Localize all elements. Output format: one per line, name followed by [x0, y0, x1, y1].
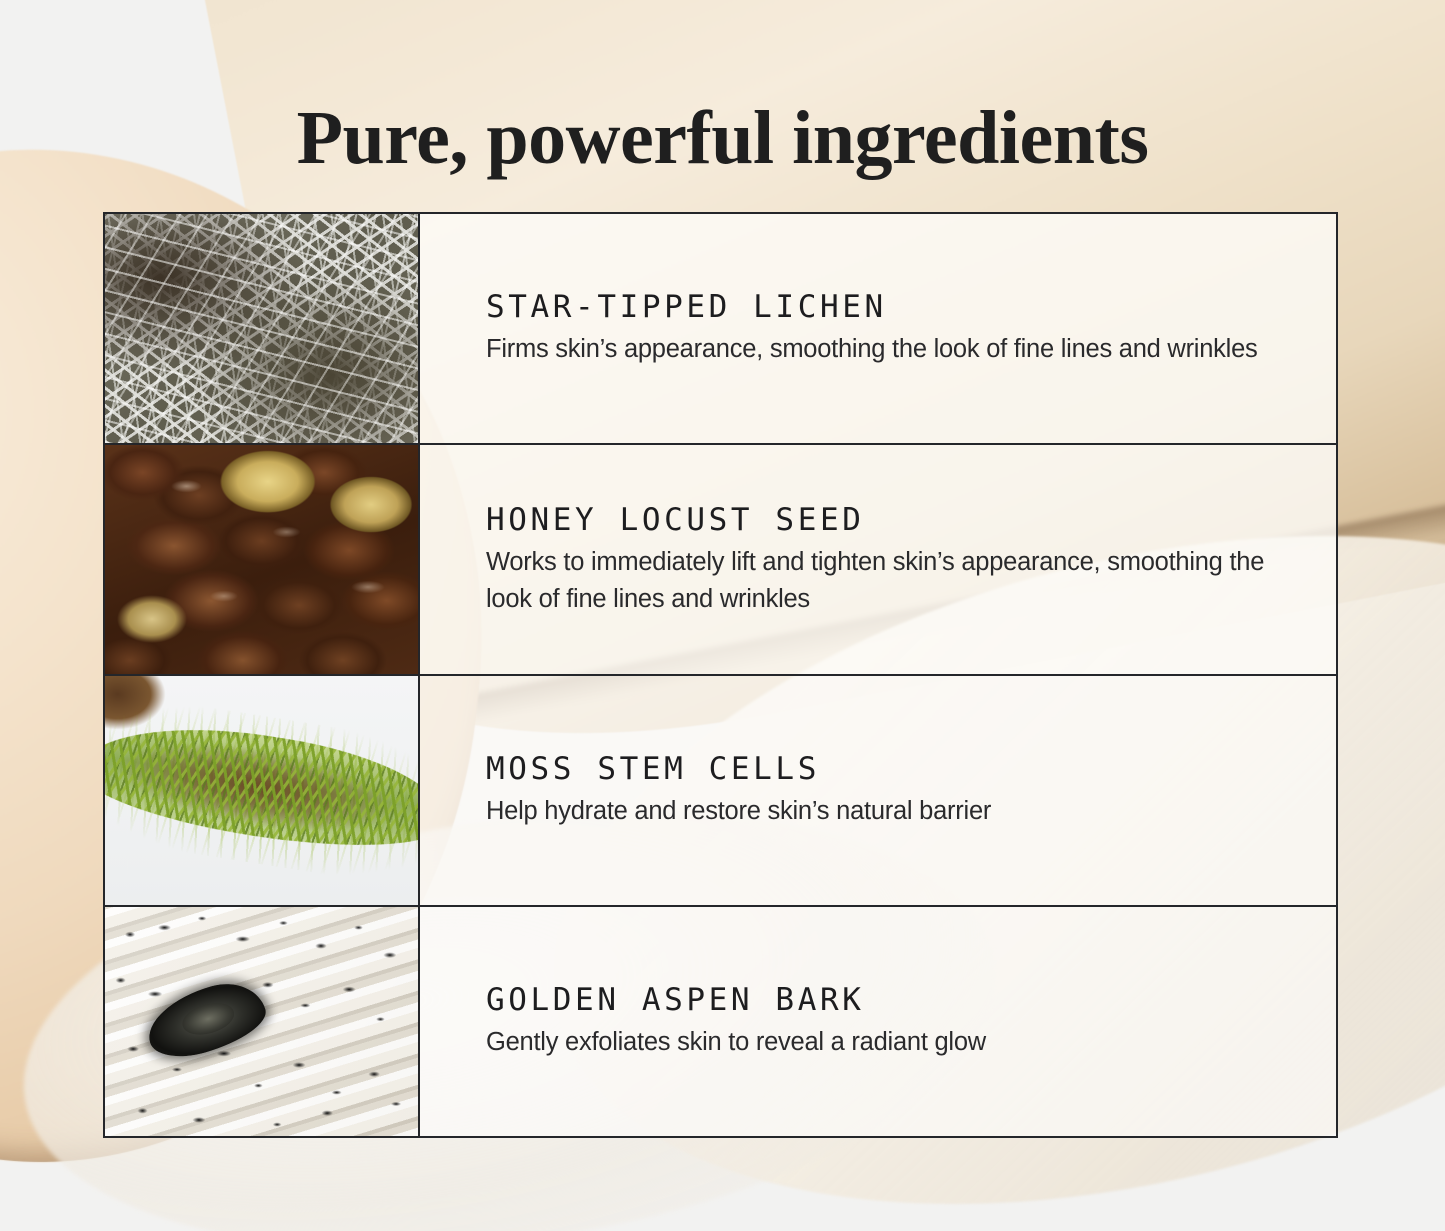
- ingredient-name: STAR-TIPPED LICHEN: [486, 289, 1302, 325]
- ingredient-description: Works to immediately lift and tighten sk…: [486, 544, 1302, 616]
- ingredient-text-star-tipped-lichen: STAR-TIPPED LICHEN Firms skin’s appearan…: [420, 214, 1336, 443]
- lichen-photo: [105, 214, 418, 443]
- ingredient-description: Gently exfoliates skin to reveal a radia…: [486, 1024, 1302, 1060]
- seed-photo: [105, 445, 418, 674]
- ingredient-text-golden-aspen-bark: GOLDEN ASPEN BARK Gently exfoliates skin…: [420, 907, 1336, 1136]
- ingredients-infographic: Pure, powerful ingredients STAR-TIPPED L…: [0, 0, 1445, 1231]
- ingredient-image-golden-aspen-bark: [105, 907, 420, 1136]
- ingredient-image-moss-stem-cells: [105, 676, 420, 905]
- ingredient-table: STAR-TIPPED LICHEN Firms skin’s appearan…: [103, 212, 1338, 1138]
- ingredient-row: HONEY LOCUST SEED Works to immediately l…: [105, 445, 1336, 676]
- ingredient-text-honey-locust-seed: HONEY LOCUST SEED Works to immediately l…: [420, 445, 1336, 674]
- ingredient-row: STAR-TIPPED LICHEN Firms skin’s appearan…: [105, 214, 1336, 445]
- ingredient-name: GOLDEN ASPEN BARK: [486, 982, 1302, 1018]
- ingredient-text-moss-stem-cells: MOSS STEM CELLS Help hydrate and restore…: [420, 676, 1336, 905]
- ingredient-name: HONEY LOCUST SEED: [486, 502, 1302, 538]
- ingredient-description: Help hydrate and restore skin’s natural …: [486, 793, 1302, 829]
- ingredient-row: MOSS STEM CELLS Help hydrate and restore…: [105, 676, 1336, 907]
- moss-photo: [105, 676, 418, 905]
- ingredient-description: Firms skin’s appearance, smoothing the l…: [486, 331, 1302, 367]
- bark-photo: [105, 907, 418, 1136]
- ingredient-name: MOSS STEM CELLS: [486, 751, 1302, 787]
- ingredient-row: GOLDEN ASPEN BARK Gently exfoliates skin…: [105, 907, 1336, 1136]
- ingredient-image-honey-locust-seed: [105, 445, 420, 674]
- ingredient-image-star-tipped-lichen: [105, 214, 420, 443]
- page-title: Pure, powerful ingredients: [0, 99, 1445, 179]
